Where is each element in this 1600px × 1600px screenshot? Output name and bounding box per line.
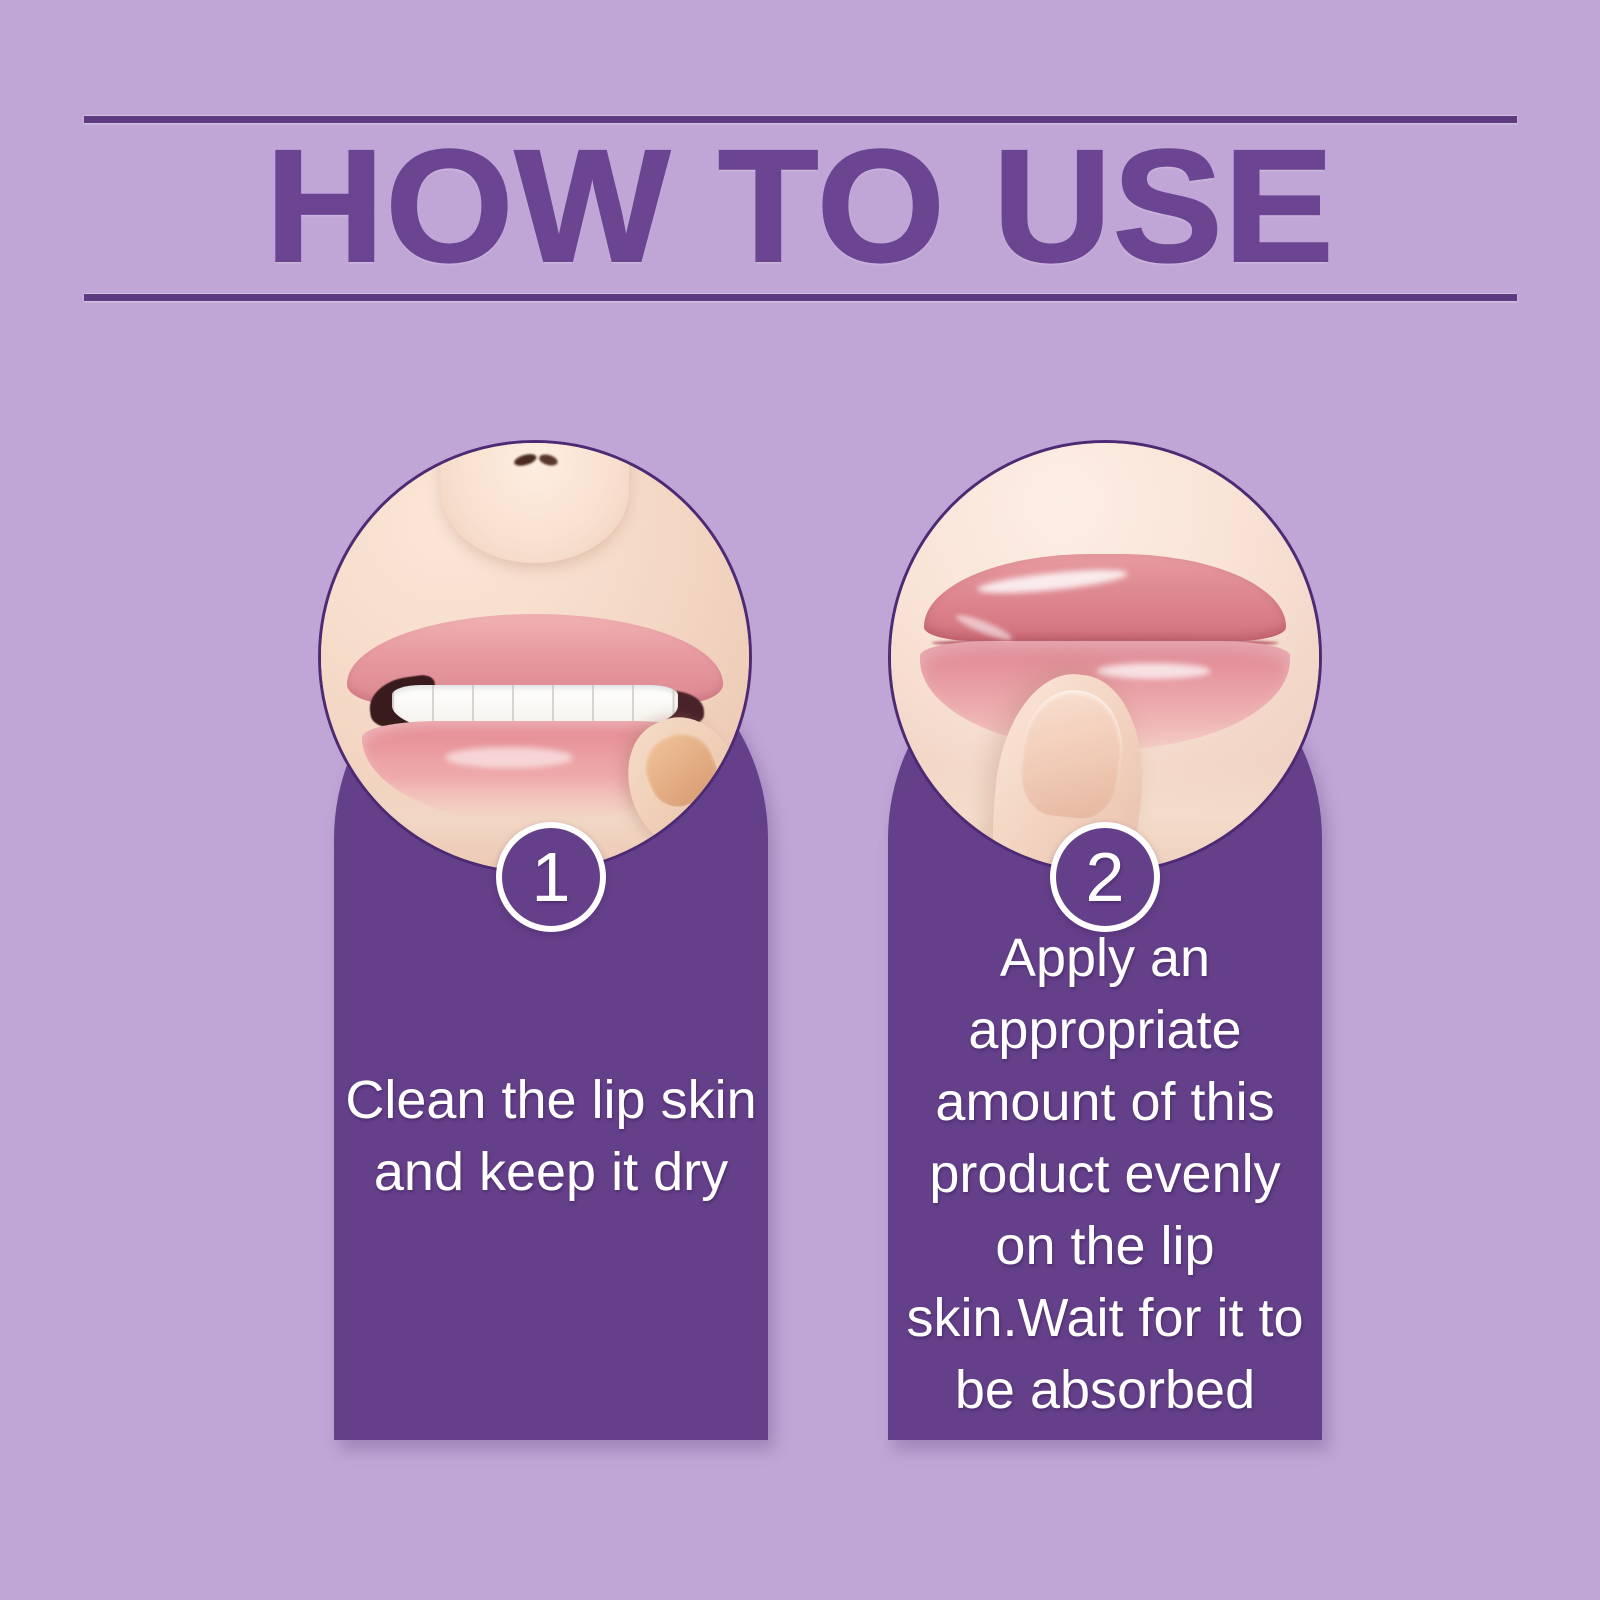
step-2-caption: Apply an appropriate amount of this prod…	[896, 922, 1314, 1426]
step-number-badge-2: 2	[1050, 822, 1160, 932]
step-2-photo	[888, 440, 1322, 874]
lip-gloss-highlight	[445, 747, 573, 768]
page-title: HOW TO USE	[0, 131, 1600, 281]
lip-gloss-highlight-b	[1097, 663, 1210, 678]
step-number-1: 1	[532, 842, 571, 912]
step-card-1: 1 Clean the lip skin and keep it dry	[334, 622, 768, 1440]
step-number-badge-1: 1	[496, 822, 606, 932]
step-1-caption: Clean the lip skin and keep it dry	[342, 1064, 760, 1208]
nostril-left-icon	[513, 452, 538, 468]
step-1-photo	[318, 440, 752, 874]
nostril-right-icon	[538, 453, 559, 468]
header-rule-bottom	[84, 294, 1517, 301]
step-card-2: 2 Apply an appropriate amount of this pr…	[888, 622, 1322, 1440]
poster-canvas: HOW TO USE 1 C	[0, 0, 1600, 1600]
fingernail-icon-2	[1016, 685, 1128, 822]
step-number-2: 2	[1086, 842, 1125, 912]
fingernail-icon	[636, 723, 727, 815]
